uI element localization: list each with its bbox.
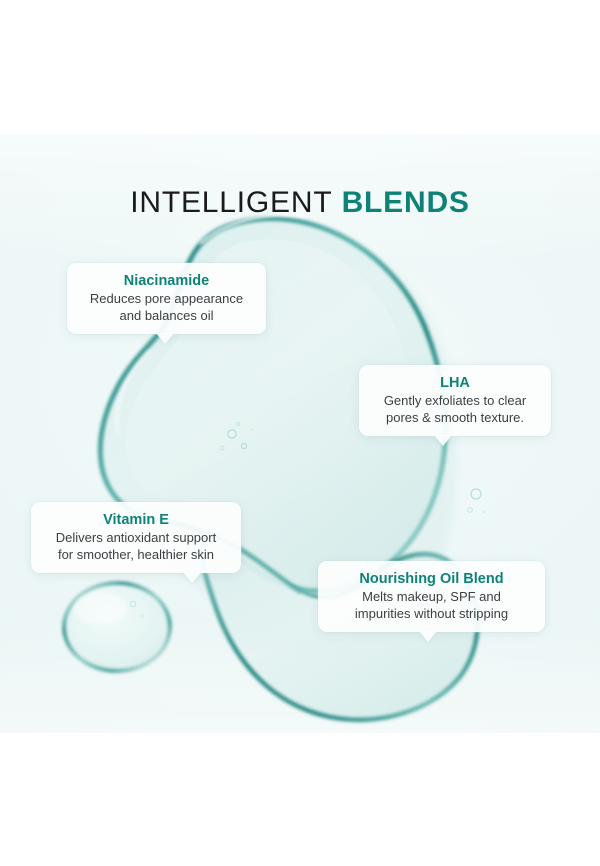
page-title-bold: BLENDS [342, 186, 470, 219]
callout-tail [419, 631, 437, 642]
callout-niacinamide[interactable]: Niacinamide Reduces pore appearance and … [67, 263, 266, 334]
callout-nourishing-oil-blend[interactable]: Nourishing Oil Blend Melts makeup, SPF a… [318, 561, 545, 632]
callout-tail [434, 435, 452, 446]
callout-tail [156, 333, 174, 344]
gel-droplet [64, 583, 170, 671]
callout-title: Niacinamide [77, 272, 256, 290]
callout-body: Delivers antioxidant support for smoothe… [41, 530, 231, 563]
callout-title: Nourishing Oil Blend [328, 570, 535, 588]
callout-lha[interactable]: LHA Gently exfoliates to clear pores & s… [359, 365, 551, 436]
page-title: INTELLIGENT BLENDS [0, 188, 600, 218]
callout-title: LHA [369, 374, 541, 392]
callout-body: Melts makeup, SPF and impurities without… [328, 589, 535, 622]
callout-body: Gently exfoliates to clear pores & smoot… [369, 393, 541, 426]
product-infographic: INTELLIGENT BLENDS Niacinamide Reduces p… [0, 0, 600, 866]
callout-vitamin-e[interactable]: Vitamin E Delivers antioxidant support f… [31, 502, 241, 573]
page-title-light: INTELLIGENT [130, 186, 332, 219]
callout-body: Reduces pore appearance and balances oil [77, 291, 256, 324]
callout-title: Vitamin E [41, 511, 231, 529]
callout-tail [183, 572, 201, 583]
